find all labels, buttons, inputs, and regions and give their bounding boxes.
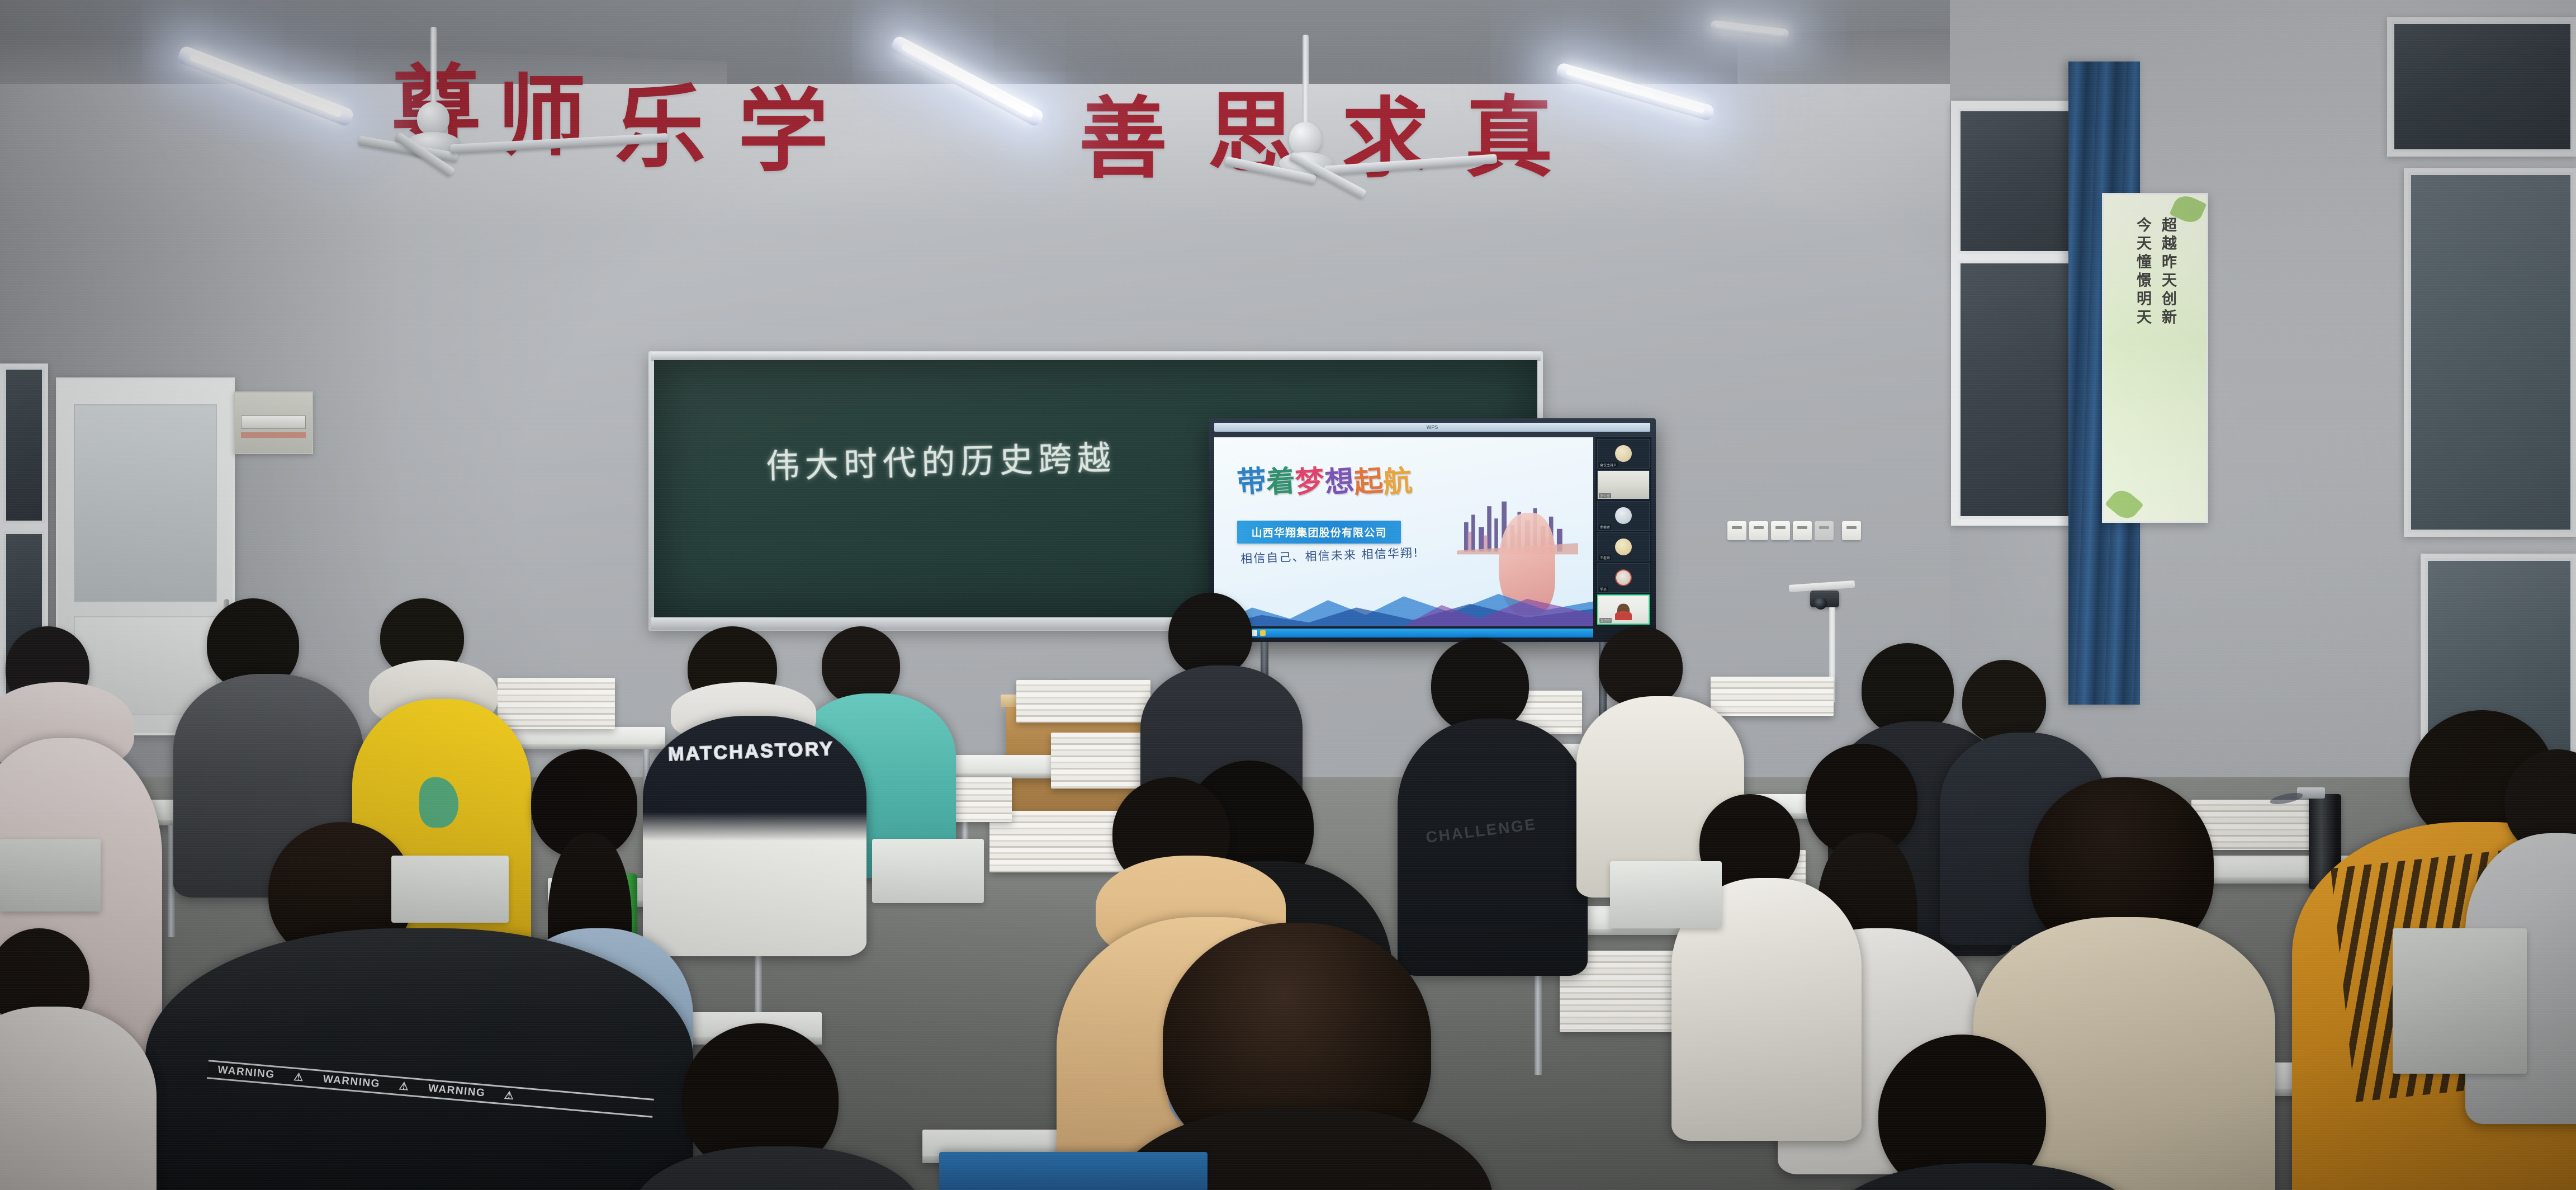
chair-back (2393, 928, 2527, 1074)
head (1599, 626, 1683, 707)
chair-back (391, 856, 509, 923)
wall-outlet[interactable] (1749, 521, 1768, 540)
folder-icon[interactable] (1260, 630, 1266, 636)
window-pane (3, 367, 45, 523)
blue-folder[interactable] (939, 1152, 1207, 1190)
vc-participant-name: 学员 (1599, 587, 1608, 592)
child-torso (1615, 611, 1632, 620)
head (1962, 660, 2046, 744)
door-glass-panel (74, 404, 217, 602)
wall-outlet-strip[interactable] (1727, 521, 1861, 540)
chair-back (0, 839, 101, 912)
banner-char-3: 乐 (615, 83, 705, 173)
wall-outlet[interactable] (1815, 521, 1834, 540)
warning-text-2: WARNING (323, 1073, 381, 1090)
screen-window-titlebar: WPS (1214, 423, 1650, 432)
torso (1398, 719, 1588, 976)
vc-participant-name: 会议主持人 (1599, 462, 1618, 467)
book-stack (498, 678, 615, 729)
fan-motor (417, 102, 449, 135)
window-pane (2408, 172, 2573, 532)
slide-title-char-6: 航 (1382, 466, 1414, 498)
poster-columns: 超越昨天创新 今天憧憬明天 (2104, 195, 2206, 521)
head (1168, 593, 1252, 677)
window-right-upper (2387, 17, 2576, 157)
warning-text-1: WARNING (217, 1064, 275, 1082)
slide-company-band: 山西华翔集团股份有限公司 (1237, 521, 1401, 544)
poster-column-1: 超越昨天创新 (2157, 217, 2179, 499)
camera-lens-icon (1815, 597, 1827, 610)
avatar (1615, 569, 1632, 586)
banner-char-5: 善 (1079, 95, 1167, 183)
vc-tile-6-active-speaker[interactable]: 发言中 (1597, 594, 1650, 625)
banner-char-8: 真 (1465, 94, 1553, 182)
head (822, 626, 900, 705)
slide-title-char-4: 想 (1324, 466, 1355, 498)
wall-outlet[interactable] (1727, 521, 1746, 540)
window-pane (2392, 21, 2573, 152)
vc-participant-name: 发言中 (1599, 618, 1612, 623)
banner-char-4: 学 (738, 87, 828, 177)
warning-text-3: WARNING (428, 1083, 486, 1100)
slide-title-char-3: 梦 (1295, 466, 1326, 498)
breaker-indicator (241, 432, 306, 438)
poster-column-2: 今天憧憬明天 (2132, 217, 2153, 499)
slide-title-char-1: 带 (1236, 466, 1267, 498)
chat-icon[interactable] (1252, 630, 1257, 636)
vc-tile-5[interactable]: 学员 (1597, 563, 1650, 593)
slide-title-char-5: 起 (1353, 466, 1384, 498)
vc-participant-name: 王老师 (1599, 555, 1611, 560)
video-conference-rail[interactable]: 会议主持人 办公室 参会者 王老师 学员 发言中 (1595, 437, 1651, 626)
breaker-slot (241, 415, 306, 429)
mountains-graphic (1214, 583, 1593, 626)
slide-company-name: 山西华翔集团股份有限公司 (1252, 527, 1387, 539)
windows-taskbar[interactable] (1214, 629, 1593, 637)
vc-tile-2[interactable]: 办公室 (1597, 470, 1650, 500)
wall-outlet[interactable] (1793, 521, 1812, 540)
chair-back (1610, 861, 1722, 928)
torso (145, 928, 693, 1190)
vc-tile-4[interactable]: 王老师 (1597, 532, 1650, 562)
warning-symbol-2: ⚠ (399, 1080, 410, 1094)
wall-outlet[interactable] (1771, 521, 1790, 540)
slide-title: 带 着 梦 想 起 航 (1237, 467, 1413, 497)
slide-title-char-2: 着 (1265, 466, 1296, 498)
classroom-scene: 尊 师 乐 学 善 思 求 真 (0, 0, 2576, 1190)
window-right-lower (2404, 168, 2576, 537)
warning-symbol-1: ⚠ (293, 1070, 304, 1084)
chair-back (872, 839, 984, 903)
vc-tile-1[interactable]: 会议主持人 (1597, 439, 1650, 469)
avatar (1615, 445, 1632, 462)
electrical-breaker-panel[interactable] (234, 391, 313, 454)
book-stack (1711, 677, 1834, 716)
warning-symbol-3: ⚠ (504, 1089, 515, 1103)
avatar (1615, 507, 1632, 524)
fan-motor (1289, 122, 1322, 155)
vc-participant-name: 参会者 (1599, 525, 1611, 530)
vc-participant-name: 办公室 (1599, 493, 1611, 498)
book-stack (1016, 680, 1150, 722)
wall-poster-calligraphy: 超越昨天创新 今天憧憬明天 (2102, 193, 2208, 523)
vc-tile-3[interactable]: 参会者 (1597, 501, 1650, 531)
projector-screen[interactable]: WPS 带 着 梦 想 起 航 山西华翔集团股份有限公司 相信自己、相信未来 相… (1209, 418, 1656, 642)
blackboard-chalk-text: 伟大时代的历史跨越 (765, 431, 1116, 488)
presentation-slide: 带 着 梦 想 起 航 山西华翔集团股份有限公司 相信自己、相信未来 相信华翔! (1214, 437, 1593, 626)
wall-outlet[interactable] (1842, 521, 1861, 540)
slide-subtitle: 相信自己、相信未来 相信华翔! (1240, 544, 1419, 566)
avatar (1615, 539, 1632, 555)
